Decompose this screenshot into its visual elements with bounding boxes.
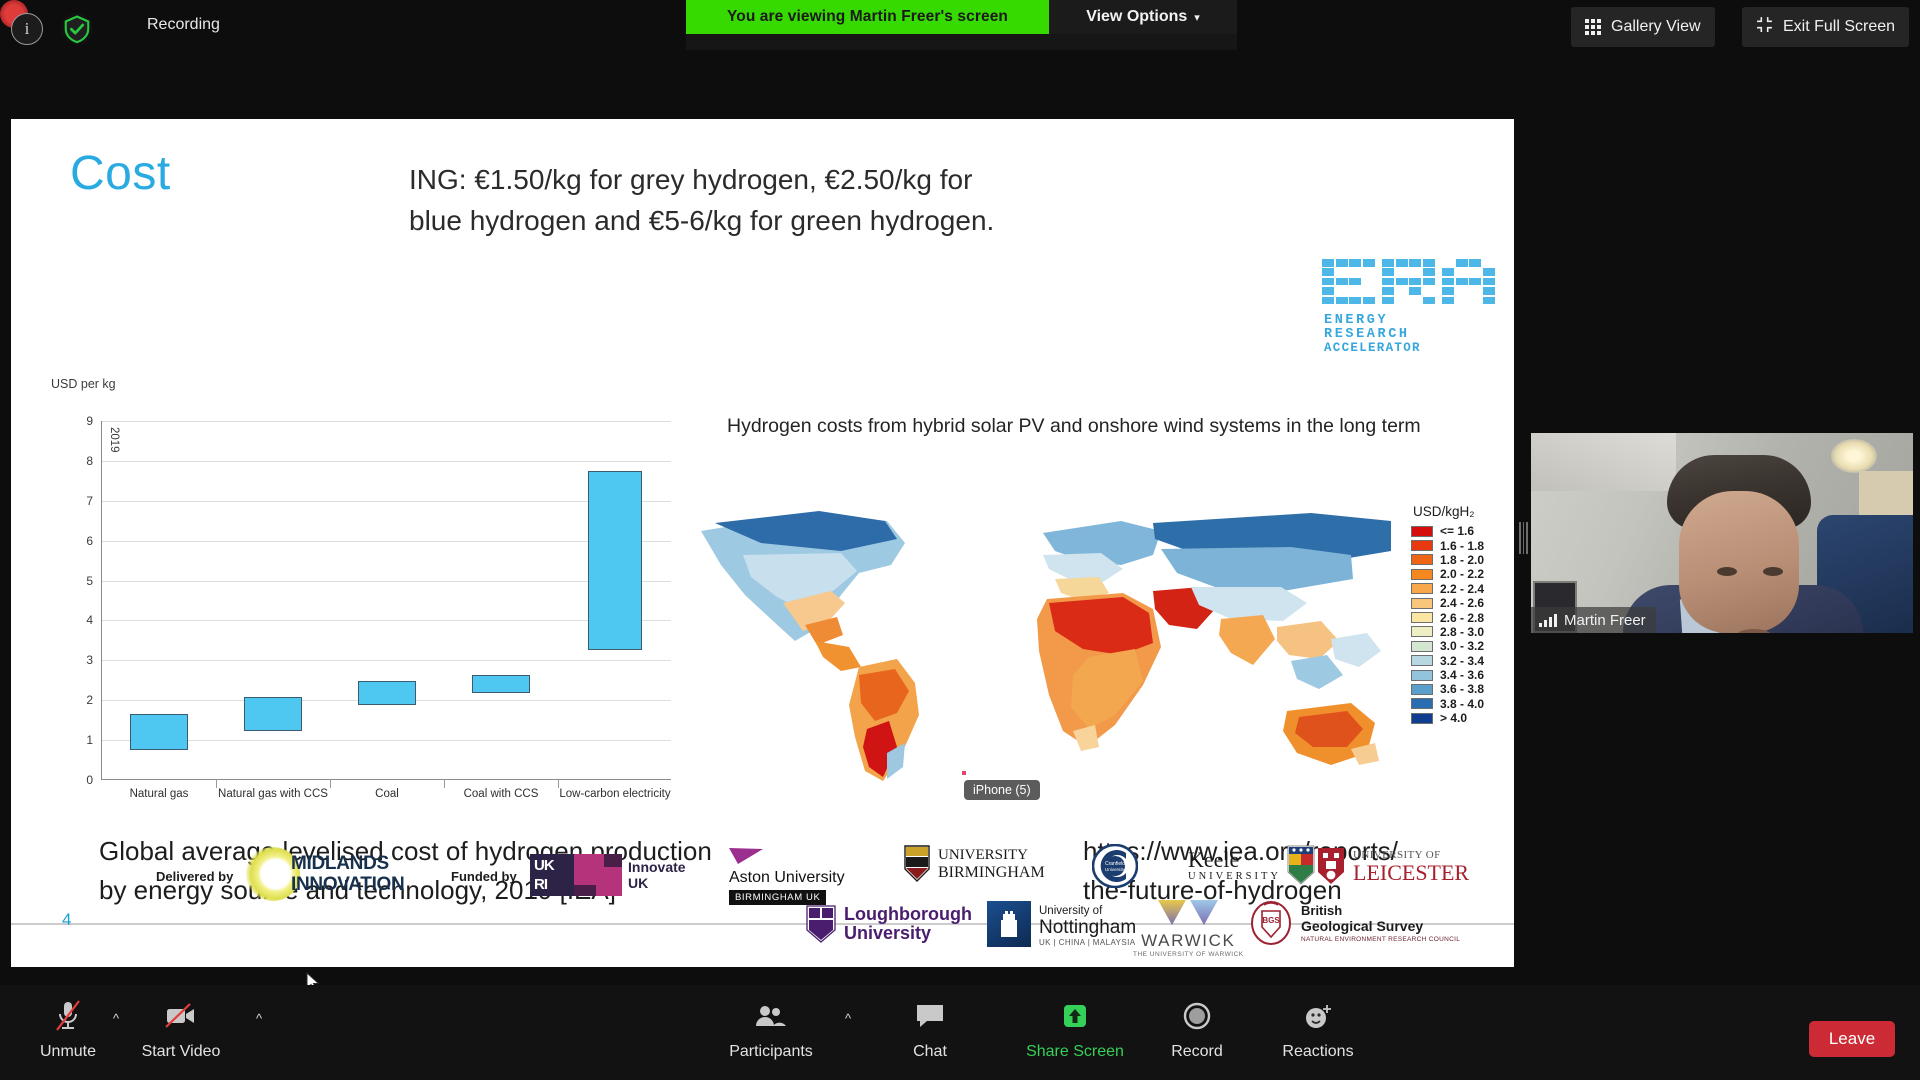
unmute-label: Unmute	[40, 1043, 96, 1061]
keele-text: Keele UNIVERSITY	[1188, 848, 1281, 882]
chart-gridline	[102, 501, 671, 502]
map-legend-rows: <= 1.61.6 - 1.81.8 - 2.02.0 - 2.22.2 - 2…	[1411, 524, 1507, 725]
midlands-innovation-text: MIDLANDS INNOVATION	[291, 853, 404, 895]
birmingham-crest-icon	[903, 845, 931, 883]
university-of-birmingham-logo: UNIVERSITY BIRMINGHAM	[903, 845, 1045, 883]
signal-bars-icon	[1539, 614, 1557, 627]
chat-label: Chat	[913, 1043, 947, 1061]
funded-by-label: Funded by	[451, 869, 517, 884]
audio-options-caret-icon[interactable]: ^	[113, 1011, 119, 1026]
loughborough-text: Loughborough University	[844, 905, 972, 943]
era-logo-pixel	[1409, 287, 1421, 295]
recording-label: Recording	[147, 16, 220, 34]
cranfield-c-icon: Cranfield University	[1092, 844, 1138, 888]
era-logo-pixel	[1322, 278, 1334, 286]
chart-y-tick-label: 3	[86, 653, 93, 667]
map-legend-swatch	[1411, 612, 1433, 623]
map-legend-item: 1.8 - 2.0	[1411, 553, 1507, 567]
era-logo-pixel	[1469, 278, 1481, 286]
era-logo-pixel	[1469, 259, 1481, 267]
era-logo-pixel	[1456, 278, 1468, 286]
video-person	[1659, 455, 1819, 633]
innovate-uk-text: Innovate UK	[628, 859, 686, 891]
map-legend-swatch	[1411, 684, 1433, 695]
chart-x-tick	[444, 779, 445, 788]
era-logo-pixel	[1382, 287, 1394, 295]
era-logo: ENERGY RESEARCH ACCELERATOR	[1322, 259, 1490, 351]
hydrogen-cost-bar-chart: USD per kg 2019 0123456789Natural gasNat…	[51, 377, 691, 812]
map-legend-item: 3.2 - 3.4	[1411, 654, 1507, 668]
map-legend-label: 2.8 - 3.0	[1440, 625, 1484, 639]
era-logo-pixel	[1322, 287, 1334, 295]
nottingham-line-1: University of	[1039, 905, 1136, 917]
video-eye-right	[1763, 567, 1783, 576]
era-logo-pixel	[1423, 259, 1435, 267]
record-circle-icon	[1183, 997, 1211, 1035]
map-legend-item: 2.4 - 2.6	[1411, 596, 1507, 610]
chart-units-label: USD per kg	[51, 377, 116, 391]
microphone-muted-icon	[53, 997, 83, 1035]
map-legend-item: 3.4 - 3.6	[1411, 668, 1507, 682]
era-logo-pixel	[1382, 259, 1394, 267]
map-legend-item: 3.0 - 3.2	[1411, 639, 1507, 653]
map-legend-label: 1.8 - 2.0	[1440, 553, 1484, 567]
aston-university-logo: Aston University BIRMINGHAM UK	[729, 848, 857, 905]
video-panel-drag-handle[interactable]	[1519, 520, 1528, 556]
chart-x-label: Natural gas with CCS	[218, 788, 328, 800]
map-legend-swatch	[1411, 713, 1433, 724]
start-video-label: Start Video	[142, 1043, 221, 1061]
share-screen-button[interactable]: Share Screen	[1015, 997, 1135, 1061]
era-logo-line-3: ACCELERATOR	[1324, 341, 1488, 355]
map-legend-label: 1.6 - 1.8	[1440, 539, 1484, 553]
ukri-dark-block-1	[604, 854, 622, 867]
chart-y-tick-label: 5	[86, 574, 93, 588]
reactions-button[interactable]: Reactions	[1272, 997, 1364, 1061]
info-icon[interactable]: i	[11, 13, 43, 45]
era-logo-pixel	[1322, 268, 1334, 276]
era-logo-pixel	[1442, 268, 1454, 276]
map-legend-swatch	[1411, 583, 1433, 594]
loughborough-crest-icon	[806, 905, 836, 943]
loughborough-line-1: Loughborough	[844, 905, 972, 924]
map-legend-title: USD/kgH₂	[1413, 504, 1507, 519]
video-options-caret-icon[interactable]: ^	[256, 1011, 262, 1026]
cranfield-university-logo: Cranfield University	[1092, 844, 1138, 893]
era-logo-pixel	[1442, 287, 1454, 295]
chart-gridline	[102, 620, 671, 621]
share-screen-label: Share Screen	[1026, 1043, 1124, 1061]
participants-button[interactable]: Participants	[725, 997, 817, 1061]
viewing-screen-banner: You are viewing Martin Freer's screen	[686, 0, 1049, 34]
era-logo-pixel	[1442, 278, 1454, 286]
map-legend-label: 2.2 - 2.4	[1440, 582, 1484, 596]
svg-text:University: University	[1105, 867, 1126, 872]
bgs-text: British Geological Survey NATURAL ENVIRO…	[1301, 903, 1460, 943]
ukri-innovate-uk-logo: UKRI Innovate UK	[530, 854, 670, 896]
era-logo-pixel	[1322, 259, 1334, 267]
map-legend-item: 1.6 - 1.8	[1411, 538, 1507, 552]
chart-y-tick-label: 2	[86, 693, 93, 707]
svg-text:BGS: BGS	[1262, 916, 1280, 925]
era-logo-pixel	[1336, 297, 1348, 305]
era-logo-pixel	[1322, 297, 1334, 305]
world-hydrogen-cost-map	[691, 499, 1391, 799]
participant-name-label: Martin Freer	[1564, 612, 1646, 629]
map-legend-item: 3.6 - 3.8	[1411, 682, 1507, 696]
map-legend-label: <= 1.6	[1440, 524, 1474, 538]
shared-slide: Cost ING: €1.50/kg for grey hydrogen, €2…	[11, 119, 1514, 967]
map-legend-label: 2.6 - 2.8	[1440, 611, 1484, 625]
bgs-tagline: NATURAL ENVIRONMENT RESEARCH COUNCIL	[1301, 936, 1460, 943]
era-logo-pixel	[1456, 259, 1468, 267]
era-logo-pixel	[1409, 278, 1421, 286]
map-legend: USD/kgH₂ <= 1.61.6 - 1.81.8 - 2.02.0 - 2…	[1411, 504, 1507, 725]
share-screen-icon	[1062, 997, 1088, 1035]
slide-lead-line-1: ING: €1.50/kg for grey hydrogen, €2.50/k…	[409, 159, 1129, 200]
world-map-graphic	[691, 499, 1391, 799]
view-options-label: View Options	[1086, 8, 1187, 26]
video-mouth	[1737, 629, 1771, 633]
nottingham-text: University of Nottingham UK | CHINA | MA…	[1031, 901, 1136, 947]
keele-crest-icon	[1287, 845, 1315, 885]
slide-title: Cost	[70, 146, 171, 201]
zoom-meeting-window: i Recording You are viewing Martin Freer…	[0, 0, 1920, 1080]
map-legend-swatch	[1411, 670, 1433, 681]
chart-y-tick-label: 4	[86, 613, 93, 627]
bottom-toolbar: Unmute ^ Start Video ^	[0, 985, 1920, 1080]
era-logo-pixel	[1483, 297, 1495, 305]
video-face	[1679, 491, 1799, 633]
leicester-line-1: UNIVERSITY OF	[1353, 849, 1469, 861]
map-legend-swatch	[1411, 540, 1433, 551]
map-legend-item: > 4.0	[1411, 711, 1507, 725]
video-lamp	[1831, 439, 1877, 473]
map-legend-swatch	[1411, 598, 1433, 609]
chat-bubble-icon	[915, 997, 945, 1035]
chat-button[interactable]: Chat	[884, 997, 976, 1061]
warwick-name: WARWICK	[1133, 931, 1244, 951]
british-geological-survey-logo: BGS British Geological Survey NATURAL EN…	[1250, 901, 1460, 945]
midlands-line-2: INNOVATION	[291, 874, 404, 895]
keele-line-1: Keele	[1188, 848, 1281, 871]
map-legend-label: > 4.0	[1440, 711, 1467, 725]
warwick-w-icon	[1146, 900, 1230, 926]
chart-x-tick	[216, 779, 217, 788]
loughborough-university-logo: Loughborough University	[806, 905, 972, 943]
era-logo-pixel	[1396, 259, 1408, 267]
map-legend-label: 2.0 - 2.2	[1440, 567, 1484, 581]
aston-name: Aston University	[729, 869, 857, 887]
bgs-line-1: British	[1301, 903, 1460, 918]
chart-bar	[130, 714, 188, 750]
midlands-innovation-logo: MIDLANDS INNOVATION	[246, 845, 406, 903]
map-legend-label: 3.2 - 3.4	[1440, 654, 1484, 668]
innovate-line-2: UK	[628, 875, 686, 891]
aston-triangle-icon	[729, 848, 763, 865]
participants-caret-icon[interactable]: ^	[845, 1011, 851, 1026]
chart-y-tick-label: 8	[86, 454, 93, 468]
leicester-crest-icon	[1317, 847, 1345, 885]
birmingham-line-1: UNIVERSITY	[938, 847, 1045, 864]
university-of-nottingham-logo: University of Nottingham UK | CHINA | MA…	[987, 901, 1136, 947]
warwick-tagline: THE UNIVERSITY OF WARWICK	[1133, 951, 1244, 958]
midlands-line-1: MIDLANDS	[291, 853, 404, 874]
birmingham-text: UNIVERSITY BIRMINGHAM	[938, 847, 1045, 881]
slide-lead-line-2: blue hydrogen and €5-6/kg for green hydr…	[409, 200, 1129, 241]
nottingham-castle-icon	[987, 901, 1031, 947]
grid-icon	[1585, 19, 1601, 35]
tooltip-anchor-dot	[962, 771, 966, 775]
map-legend-label: 3.4 - 3.6	[1440, 668, 1484, 682]
era-logo-pixel	[1382, 278, 1394, 286]
nottingham-line-2: Nottingham	[1039, 917, 1136, 938]
chart-gridline	[102, 421, 671, 422]
era-logo-pixel	[1396, 278, 1408, 286]
map-legend-item: <= 1.6	[1411, 524, 1507, 538]
map-legend-label: 3.0 - 3.2	[1440, 639, 1484, 653]
shield-check-icon[interactable]	[61, 13, 93, 45]
keele-line-2: UNIVERSITY	[1188, 871, 1281, 882]
video-ceiling	[1531, 433, 1676, 491]
university-of-leicester-logo: UNIVERSITY OF LEICESTER	[1317, 847, 1469, 885]
chart-y-tick-label: 9	[86, 414, 93, 428]
map-legend-swatch	[1411, 655, 1433, 666]
era-logo-pixel	[1483, 287, 1495, 295]
view-options-button[interactable]: View Options ▾	[1049, 0, 1237, 34]
era-logo-pixel	[1483, 268, 1495, 276]
chart-x-label: Low-carbon electricity	[559, 788, 670, 800]
leave-button[interactable]: Leave	[1809, 1021, 1895, 1057]
era-logo-pixel	[1336, 278, 1348, 286]
exit-full-screen-button[interactable]: Exit Full Screen	[1742, 7, 1909, 47]
era-logo-pixel	[1349, 259, 1361, 267]
map-legend-item: 2.6 - 2.8	[1411, 610, 1507, 624]
ukri-mark-text: UKRI	[534, 856, 554, 894]
gallery-view-label: Gallery View	[1611, 18, 1701, 36]
chart-y-tick-label: 0	[86, 773, 93, 787]
map-legend-label: 3.8 - 4.0	[1440, 697, 1484, 711]
banner-shadow	[686, 34, 1237, 50]
map-legend-swatch	[1411, 626, 1433, 637]
start-video-button[interactable]: Start Video	[135, 997, 227, 1061]
loughborough-line-2: University	[844, 924, 972, 943]
innovate-line-1: Innovate	[628, 859, 686, 875]
era-logo-pixel	[1423, 278, 1435, 286]
ukri-mark: UKRI	[530, 854, 574, 896]
map-legend-label: 2.4 - 2.6	[1440, 596, 1484, 610]
chart-y-tick-label: 7	[86, 494, 93, 508]
map-legend-label: 3.6 - 3.8	[1440, 682, 1484, 696]
era-logo-pixel	[1483, 278, 1495, 286]
chart-x-label: Natural gas	[130, 788, 189, 800]
keele-university-logo: Keele UNIVERSITY	[1188, 845, 1315, 885]
participant-video-tile[interactable]: Martin Freer	[1531, 433, 1913, 633]
participants-label: Participants	[729, 1043, 813, 1061]
map-legend-swatch	[1411, 569, 1433, 580]
era-logo-pixel	[1382, 268, 1394, 276]
era-logo-pixel	[1423, 297, 1435, 305]
chart-x-label: Coal with CCS	[464, 788, 539, 800]
chart-bar	[244, 697, 302, 731]
camera-off-icon	[164, 997, 198, 1035]
chart-x-label: Coal	[375, 788, 399, 800]
era-logo-pixel	[1382, 297, 1394, 305]
slide-lead-text: ING: €1.50/kg for grey hydrogen, €2.50/k…	[409, 159, 1129, 241]
birmingham-line-2: BIRMINGHAM	[938, 864, 1045, 881]
chart-gridline	[102, 660, 671, 661]
aston-sub: BIRMINGHAM UK	[729, 890, 826, 905]
leicester-text: UNIVERSITY OF LEICESTER	[1353, 849, 1469, 884]
page-number: 4	[62, 910, 71, 930]
chevron-down-icon: ▾	[1194, 11, 1200, 24]
chart-x-tick	[558, 779, 559, 788]
leicester-line-2: LEICESTER	[1353, 861, 1469, 884]
unmute-button[interactable]: Unmute	[22, 997, 114, 1061]
reactions-label: Reactions	[1282, 1043, 1353, 1061]
reactions-smiley-icon	[1303, 997, 1333, 1035]
era-logo-pixel	[1363, 259, 1375, 267]
era-logo-pixel	[1363, 297, 1375, 305]
era-logo-line-1: ENERGY	[1324, 313, 1488, 328]
era-logo-pixel	[1423, 268, 1435, 276]
nottingham-tagline: UK | CHINA | MALAYSIA	[1039, 938, 1136, 947]
era-logo-pixel	[1349, 297, 1361, 305]
record-button[interactable]: Record	[1151, 997, 1243, 1061]
map-legend-swatch	[1411, 554, 1433, 565]
chart-year-label: 2019	[108, 427, 120, 453]
map-legend-swatch	[1411, 526, 1433, 537]
era-logo-pixel	[1409, 259, 1421, 267]
chart-gridline	[102, 461, 671, 462]
map-legend-item: 3.8 - 4.0	[1411, 697, 1507, 711]
bgs-crest-icon: BGS	[1250, 901, 1292, 945]
bgs-line-2: Geological Survey	[1301, 918, 1460, 934]
era-logo-pixel	[1336, 259, 1348, 267]
participants-icon	[754, 997, 788, 1035]
warwick-university-logo: WARWICK THE UNIVERSITY OF WARWICK	[1133, 900, 1244, 958]
map-legend-item: 2.2 - 2.4	[1411, 582, 1507, 596]
iphone-tooltip: iPhone (5)	[964, 780, 1040, 800]
map-legend-swatch	[1411, 641, 1433, 652]
chart-gridline	[102, 541, 671, 542]
participant-name-badge: Martin Freer	[1531, 607, 1656, 633]
delivered-by-label: Delivered by	[156, 869, 233, 884]
chart-x-tick	[330, 779, 331, 788]
chart-gridline	[102, 581, 671, 582]
chart-y-tick-label: 1	[86, 733, 93, 747]
era-logo-pixel	[1442, 297, 1454, 305]
chart-bar	[358, 681, 416, 705]
ukri-dark-block-2	[574, 885, 596, 896]
era-logo-line-2: RESEARCH	[1324, 327, 1488, 342]
chart-bar	[588, 471, 642, 650]
top-toolbar: i Recording You are viewing Martin Freer…	[0, 0, 1920, 58]
map-legend-swatch	[1411, 698, 1433, 709]
era-logo-pixel	[1349, 278, 1361, 286]
exit-fullscreen-icon	[1756, 16, 1773, 38]
video-eye-left	[1717, 567, 1737, 576]
gallery-view-button[interactable]: Gallery View	[1571, 7, 1715, 47]
map-legend-item: 2.8 - 3.0	[1411, 625, 1507, 639]
chart-plot-area: 2019 0123456789Natural gasNatural gas wi…	[101, 421, 671, 780]
map-legend-item: 2.0 - 2.2	[1411, 567, 1507, 581]
record-label: Record	[1171, 1043, 1223, 1061]
chart-bar	[472, 675, 530, 693]
map-title: Hydrogen costs from hybrid solar PV and …	[727, 415, 1421, 438]
exit-full-screen-label: Exit Full Screen	[1783, 18, 1895, 36]
chart-y-tick-label: 6	[86, 534, 93, 548]
